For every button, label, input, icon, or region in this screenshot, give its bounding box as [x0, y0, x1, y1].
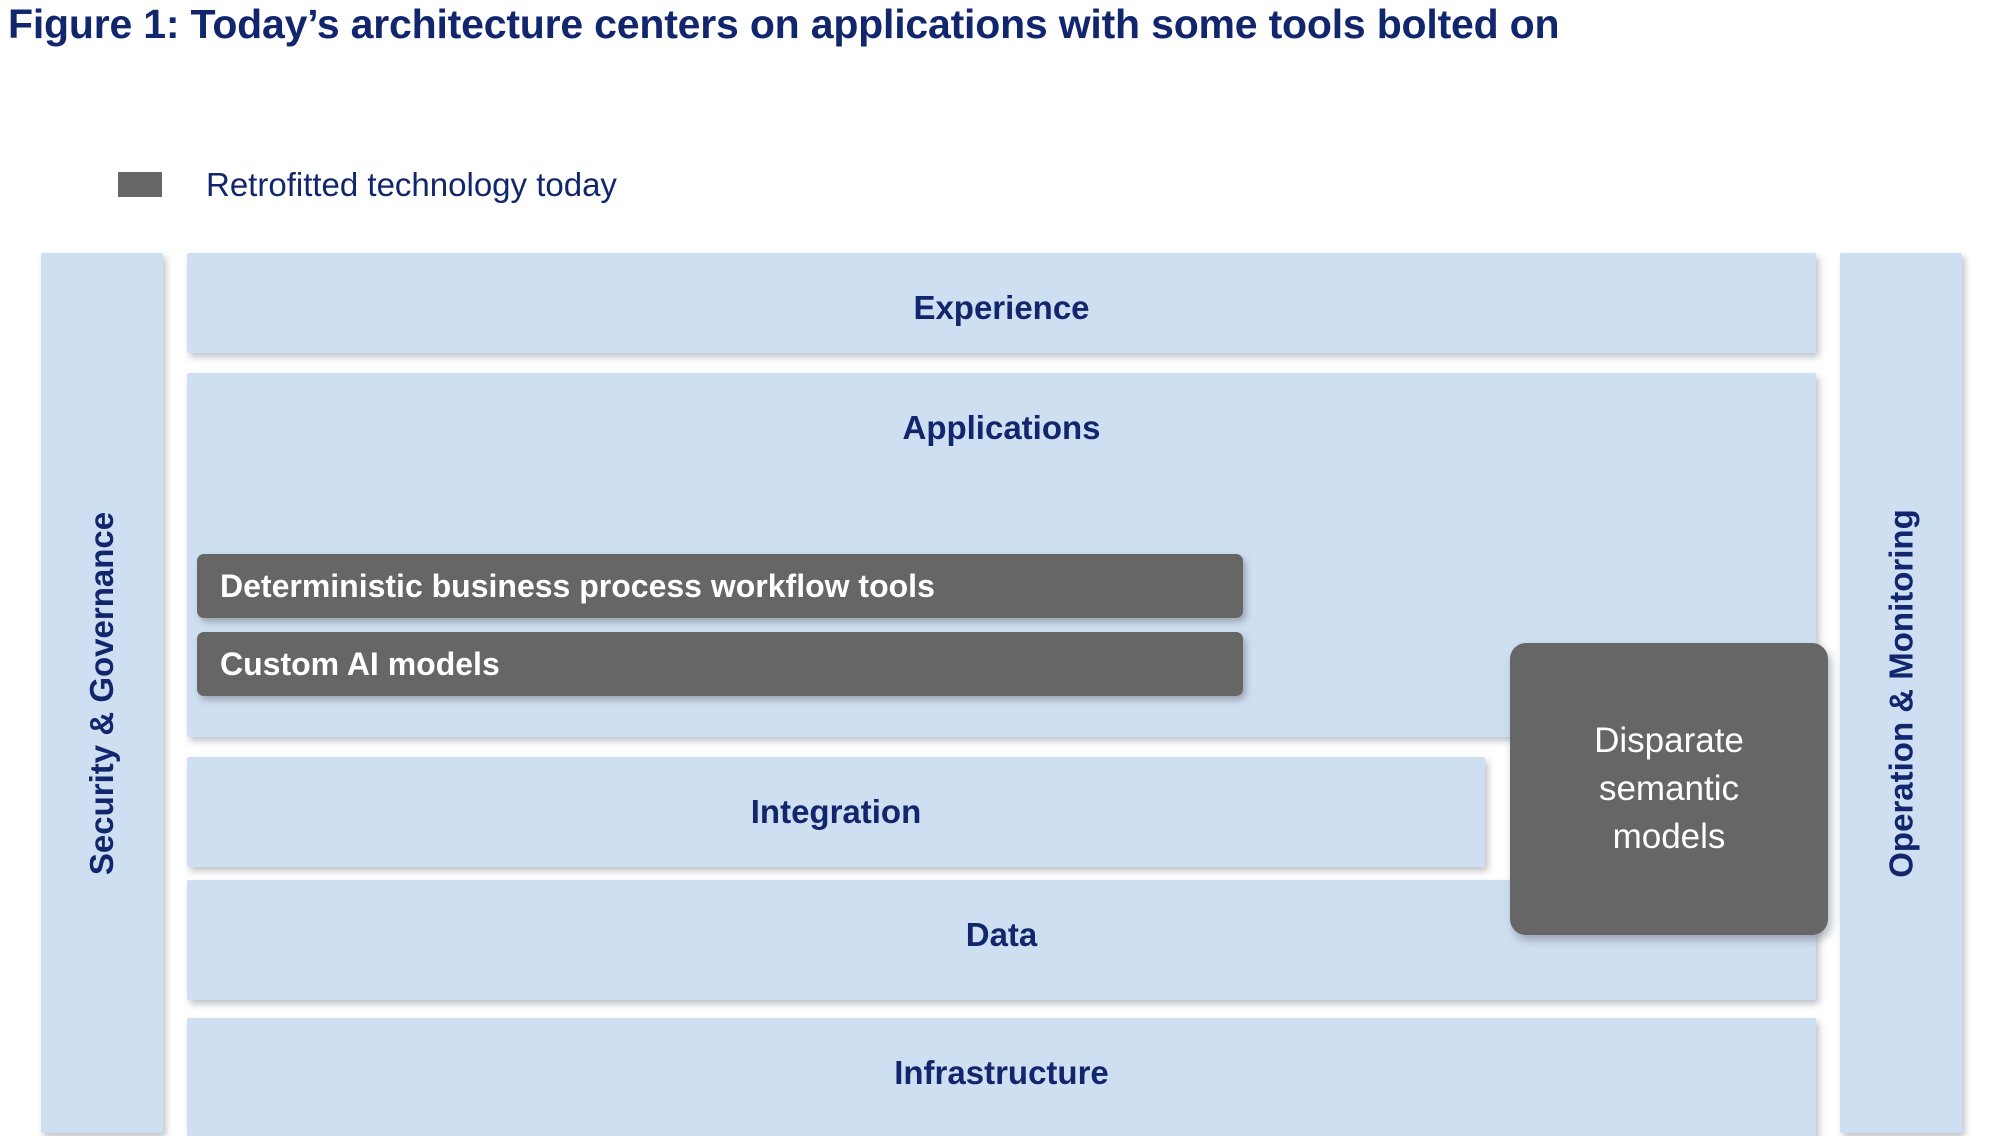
layer-experience-label: Experience — [913, 291, 1089, 324]
callout-disparate-semantic-models-label: Disparate semantic models — [1594, 717, 1744, 861]
layer-experience: Experience — [187, 253, 1816, 353]
callout-disparate-semantic-models: Disparate semantic models — [1510, 643, 1828, 935]
layer-integration-label: Integration — [751, 795, 922, 828]
layer-integration: Integration — [187, 757, 1485, 867]
pillar-operation-monitoring-label: Operation & Monitoring — [1885, 509, 1918, 877]
retrofitted-item-custom-ai-models-label: Custom AI models — [220, 648, 500, 680]
retrofitted-item-custom-ai-models: Custom AI models — [197, 632, 1243, 696]
pillar-security-governance: Security & Governance — [41, 253, 163, 1133]
pillar-operation-monitoring: Operation & Monitoring — [1840, 253, 1962, 1133]
layer-applications-label: Applications — [902, 411, 1100, 444]
layer-infrastructure-label: Infrastructure — [894, 1056, 1109, 1089]
retrofitted-item-workflow-tools: Deterministic business process workflow … — [197, 554, 1243, 618]
layer-data-label: Data — [966, 918, 1038, 951]
architecture-diagram: Security & Governance Operation & Monito… — [0, 0, 1999, 1125]
layer-infrastructure: Infrastructure — [187, 1018, 1816, 1136]
retrofitted-item-workflow-tools-label: Deterministic business process workflow … — [220, 570, 935, 602]
pillar-security-governance-label: Security & Governance — [86, 511, 119, 874]
